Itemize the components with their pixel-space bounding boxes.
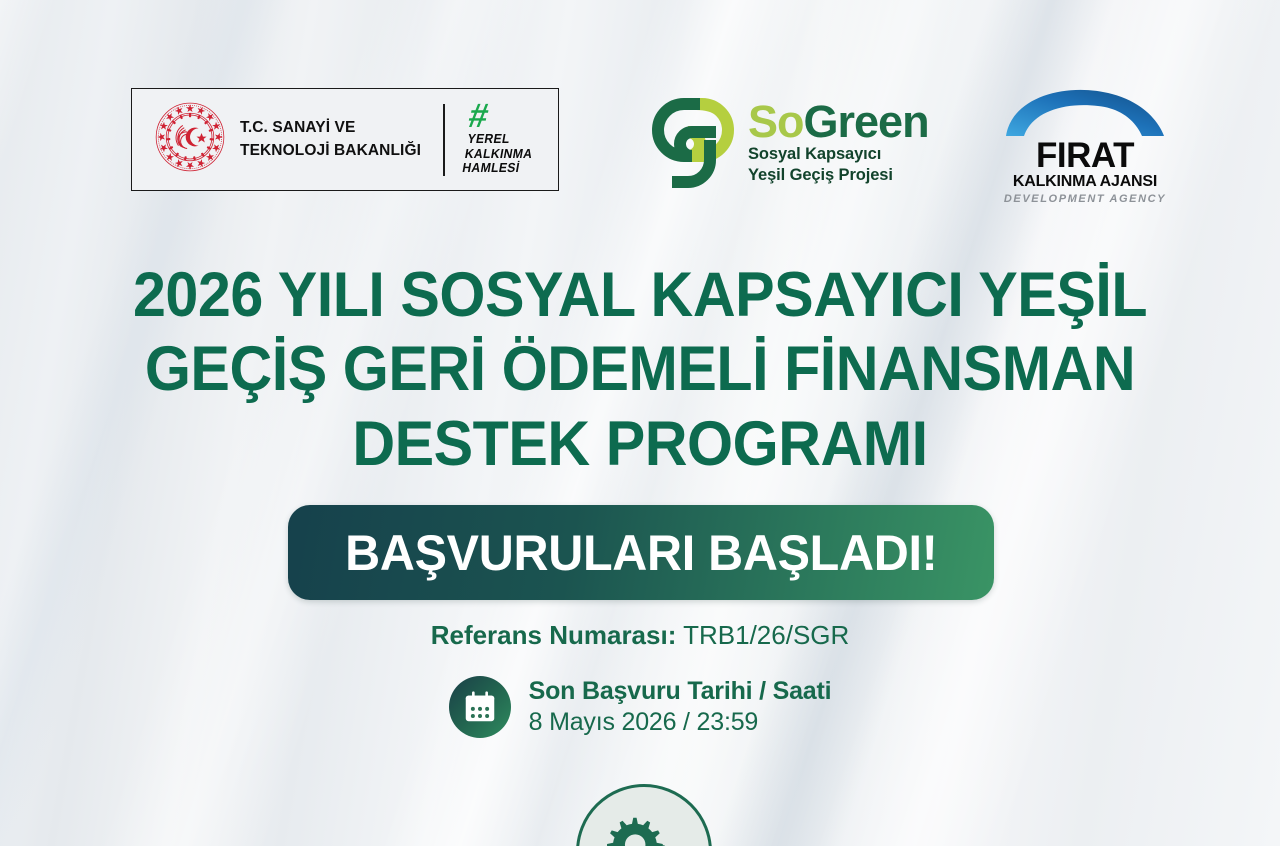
firat-agency-en: DEVELOPMENT AGENCY (1000, 193, 1170, 205)
sogreen-subtitle-line2: Yeşil Geçiş Projesi (748, 165, 929, 186)
firat-name: FIRAT (1000, 139, 1170, 172)
sogreen-logo: SoGreen Sosyal Kapsayıcı Yeşil Geçiş Pro… (650, 90, 929, 195)
sogreen-word-so: So (748, 96, 804, 147)
page-title: 2026 YILI SOSYAL KAPSAYICI YEŞİL GEÇİŞ G… (0, 258, 1280, 481)
sogreen-word-green: Green (804, 96, 929, 147)
ministry-name-line1: T.C. SANAYİ VE (240, 117, 421, 139)
deadline-title: Son Başvuru Tarihi / Saati (529, 676, 832, 707)
applications-open-label: BAŞVURULARI BAŞLADI! (345, 524, 937, 582)
sogreen-spiral-mark (650, 90, 736, 195)
headline-line1: 2026 YILI SOSYAL KAPSAYICI YEŞİL (38, 258, 1241, 332)
gear-leaf-icon (576, 784, 712, 846)
sogreen-subtitle-line1: Sosyal Kapsayıcı (748, 144, 929, 165)
calendar-icon (449, 676, 511, 738)
campaign-name: YEREL KALKINMA HAMLESİ (461, 132, 536, 176)
turkish-ministry-emblem (154, 101, 226, 178)
headline-line3: DESTEK PROGRAMI (38, 407, 1241, 481)
sogreen-wordmark: SoGreen (748, 99, 929, 144)
ministry-name: T.C. SANAYİ VE TEKNOLOJİ BAKANLIĞI (240, 117, 421, 162)
applications-open-banner: BAŞVURULARI BAŞLADI! (288, 505, 994, 600)
deadline-text: Son Başvuru Tarihi / Saati 8 Mayıs 2026 … (529, 676, 832, 738)
hashtag-icon: # (467, 103, 491, 130)
ministry-logo-box: T.C. SANAYİ VE TEKNOLOJİ BAKANLIĞI # YER… (131, 88, 559, 191)
deadline-value: 8 Mayıs 2026 / 23:59 (529, 707, 832, 738)
headline-line2: GEÇİŞ GERİ ÖDEMELİ FİNANSMAN (38, 332, 1241, 406)
yerel-kalkinma-hamlesi-logo: # YEREL KALKINMA HAMLESİ (465, 103, 538, 176)
logo-bar: T.C. SANAYİ VE TEKNOLOJİ BAKANLIĞI # YER… (0, 84, 1280, 202)
logo-divider (443, 104, 445, 176)
ministry-name-line2: TEKNOLOJİ BAKANLIĞI (240, 140, 421, 162)
firat-agency-tr: KALKINMA AJANSI (1000, 173, 1170, 191)
campaign-line1: YEREL (466, 132, 536, 147)
deadline-block: Son Başvuru Tarihi / Saati 8 Mayıs 2026 … (0, 676, 1280, 738)
campaign-line3: HAMLESİ (461, 161, 531, 176)
poster-canvas: T.C. SANAYİ VE TEKNOLOJİ BAKANLIĞI # YER… (0, 0, 1280, 846)
reference-number-value: TRB1/26/SGR (683, 620, 849, 650)
reference-number-label: Referans Numarası: (431, 620, 677, 650)
firat-development-agency-logo: FIRAT KALKINMA AJANSI DEVELOPMENT AGENCY (1000, 86, 1170, 205)
reference-number: Referans Numarası: TRB1/26/SGR (0, 620, 1280, 651)
sogreen-text-block: SoGreen Sosyal Kapsayıcı Yeşil Geçiş Pro… (748, 99, 929, 186)
